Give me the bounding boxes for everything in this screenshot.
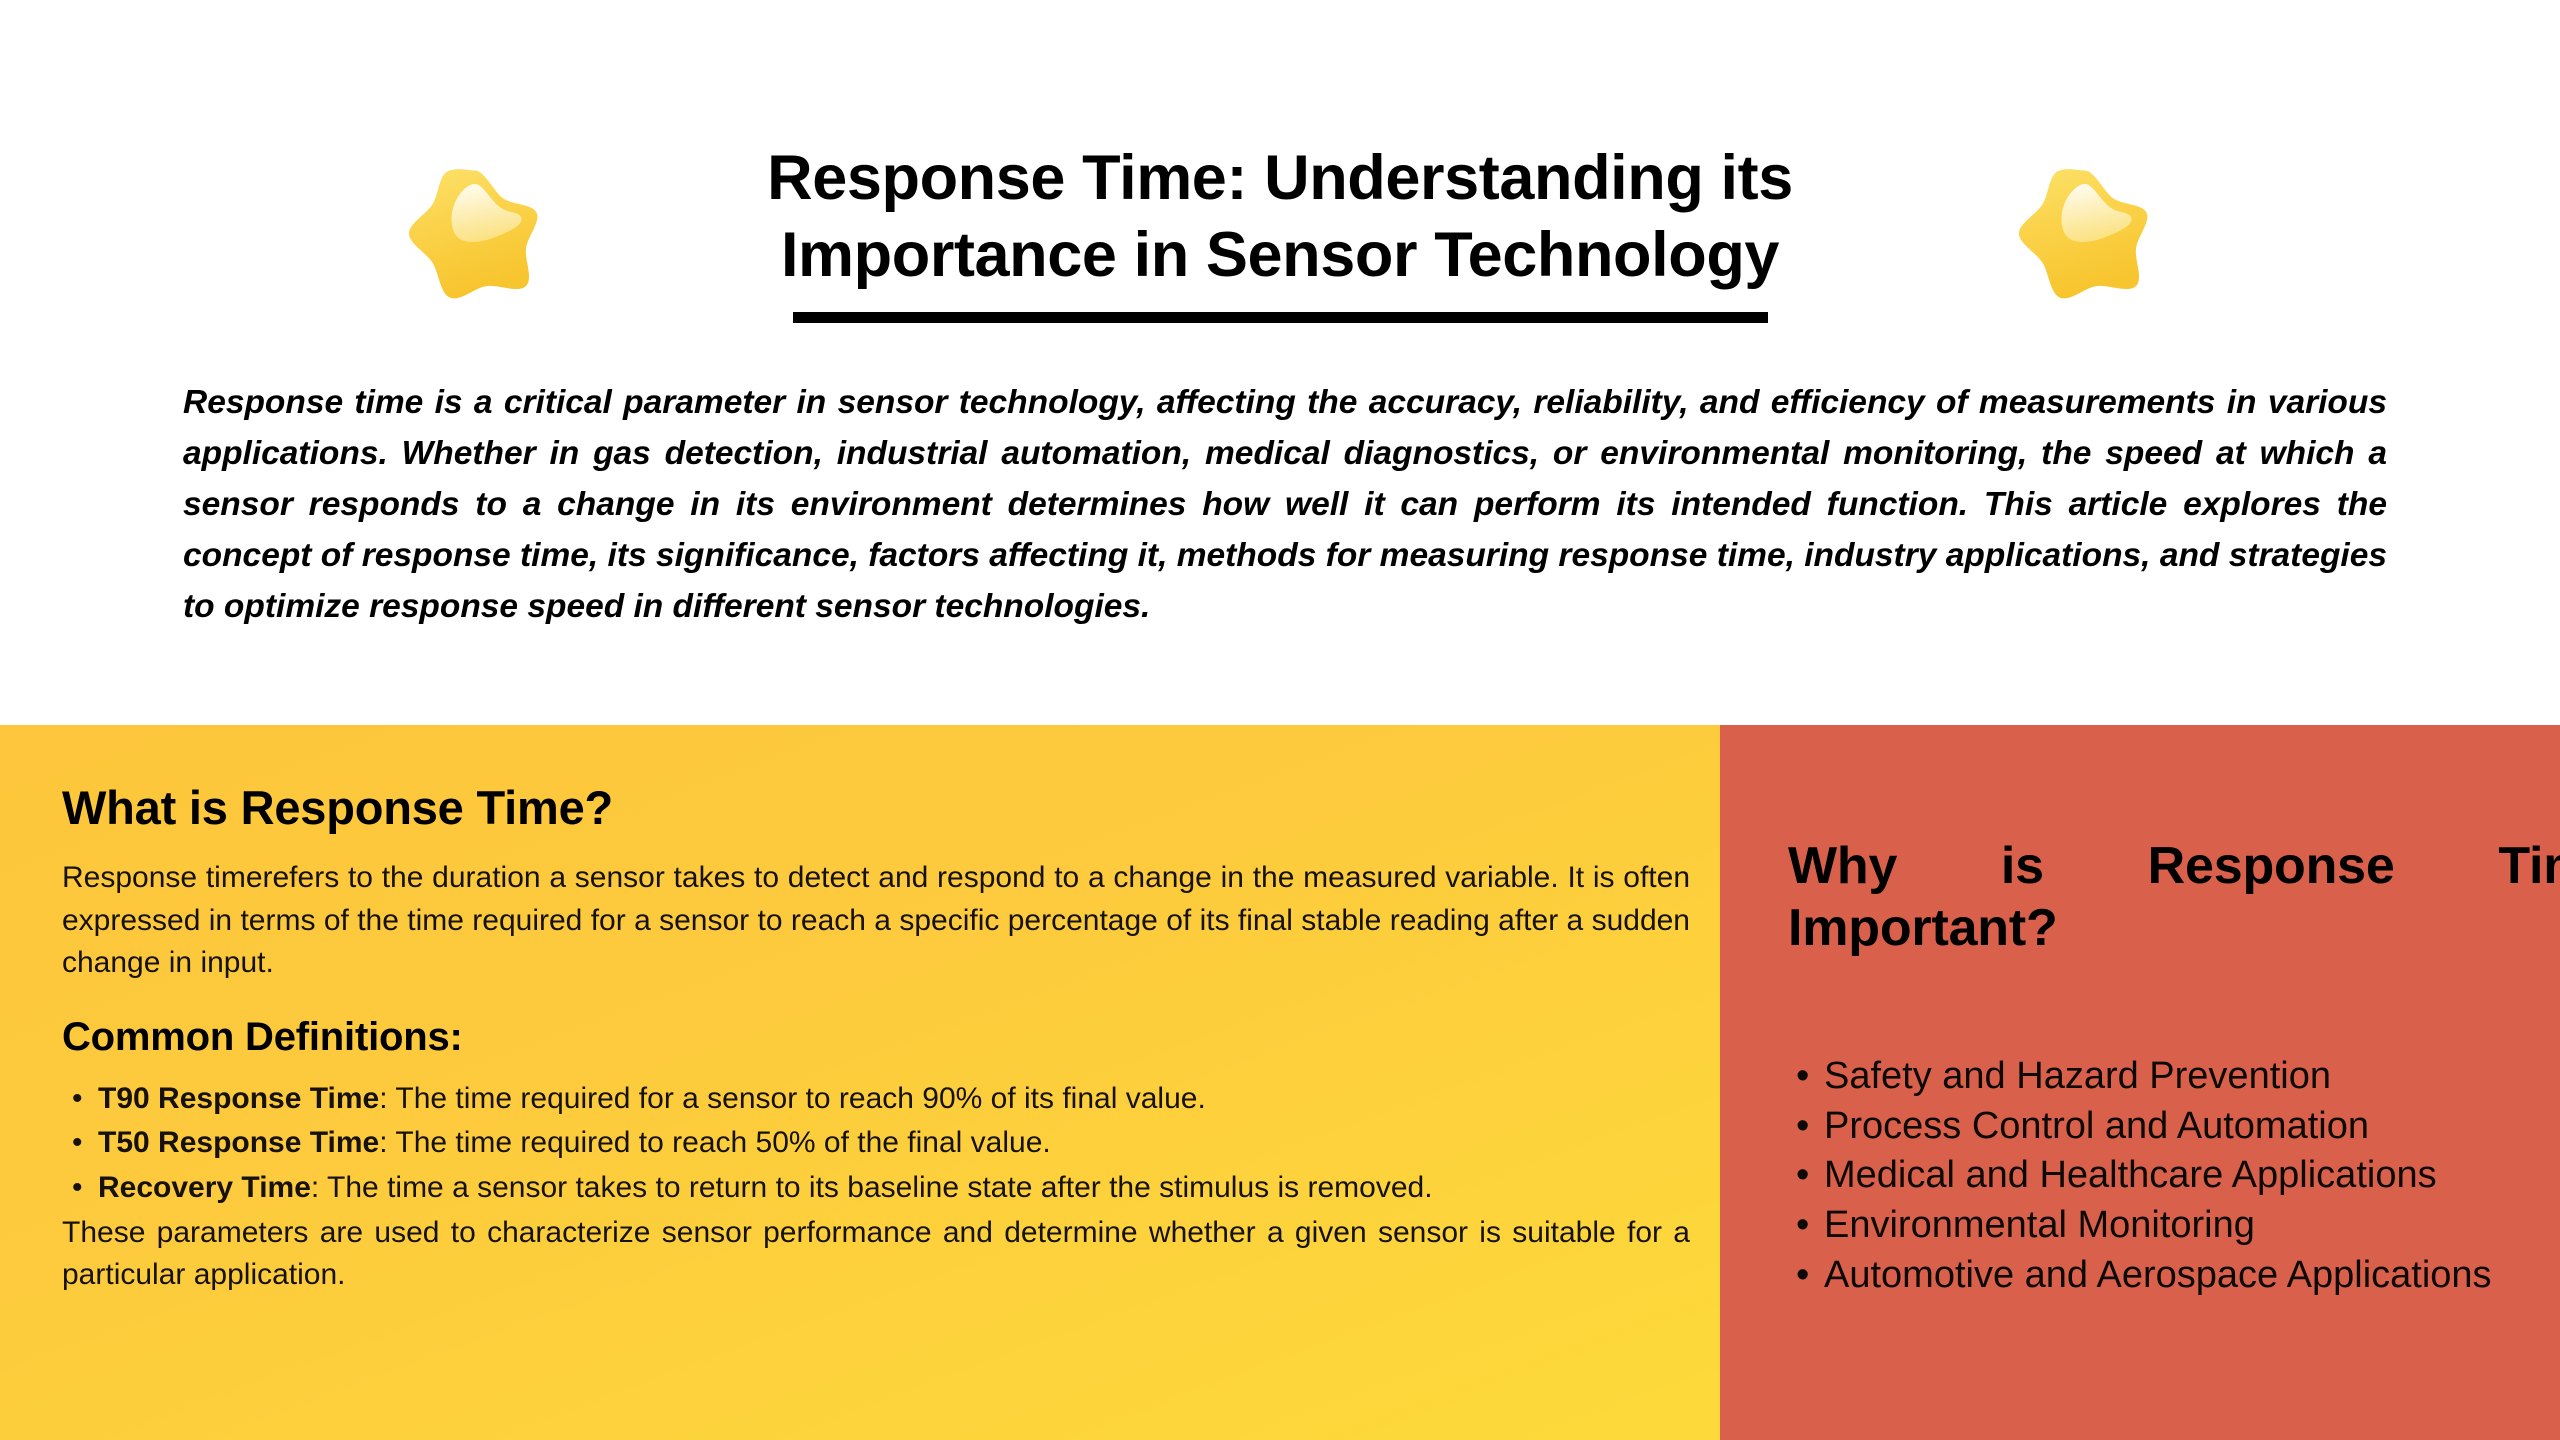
title-row: Response Time: Understanding its Importa… bbox=[0, 140, 2560, 323]
title-block: Response Time: Understanding its Importa… bbox=[610, 140, 1950, 323]
definition-term: T50 Response Time bbox=[98, 1126, 379, 1159]
definition-term: T90 Response Time bbox=[98, 1082, 379, 1115]
star-icon bbox=[400, 160, 550, 310]
yellow-panel-heading: What is Response Time? bbox=[62, 780, 1690, 835]
panels-container: What is Response Time? Response timerefe… bbox=[0, 725, 2560, 1440]
yellow-panel-closing-paragraph: These parameters are used to characteriz… bbox=[62, 1212, 1690, 1297]
list-item: Recovery Time: The time a sensor takes t… bbox=[62, 1167, 1690, 1210]
list-item: Process Control and Automation bbox=[1788, 1102, 2560, 1151]
star-icon bbox=[2010, 160, 2160, 310]
list-item: T90 Response Time: The time required for… bbox=[62, 1078, 1690, 1121]
header-section: Response Time: Understanding its Importa… bbox=[0, 0, 2560, 725]
common-definitions-subheading: Common Definitions: bbox=[62, 1015, 1690, 1060]
definition-description: : The time required for a sensor to reac… bbox=[379, 1082, 1206, 1115]
list-item: Safety and Hazard Prevention bbox=[1788, 1052, 2560, 1101]
definition-description: : The time required to reach 50% of the … bbox=[379, 1126, 1051, 1159]
intro-paragraph: Response time is a critical parameter in… bbox=[183, 378, 2387, 633]
importance-list: Safety and Hazard Prevention Process Con… bbox=[1788, 1052, 2560, 1299]
definitions-list: T90 Response Time: The time required for… bbox=[62, 1078, 1690, 1210]
title-underline-rule bbox=[793, 312, 1768, 323]
list-item: Medical and Healthcare Applications bbox=[1788, 1151, 2560, 1200]
list-item: Automotive and Aerospace Applications bbox=[1788, 1251, 2560, 1300]
definition-description: : The time a sensor takes to return to i… bbox=[311, 1171, 1433, 1204]
list-item: Environmental Monitoring bbox=[1788, 1201, 2560, 1250]
red-panel-heading: Why is Response Time Important? bbox=[1788, 835, 2560, 1022]
list-item: T50 Response Time: The time required to … bbox=[62, 1122, 1690, 1165]
yellow-panel: What is Response Time? Response timerefe… bbox=[0, 725, 1720, 1440]
yellow-panel-intro-paragraph: Response timerefers to the duration a se… bbox=[62, 857, 1690, 985]
page-title: Response Time: Understanding its Importa… bbox=[610, 140, 1950, 294]
red-panel: Why is Response Time Important? Safety a… bbox=[1720, 725, 2560, 1440]
definition-term: Recovery Time bbox=[98, 1171, 311, 1204]
